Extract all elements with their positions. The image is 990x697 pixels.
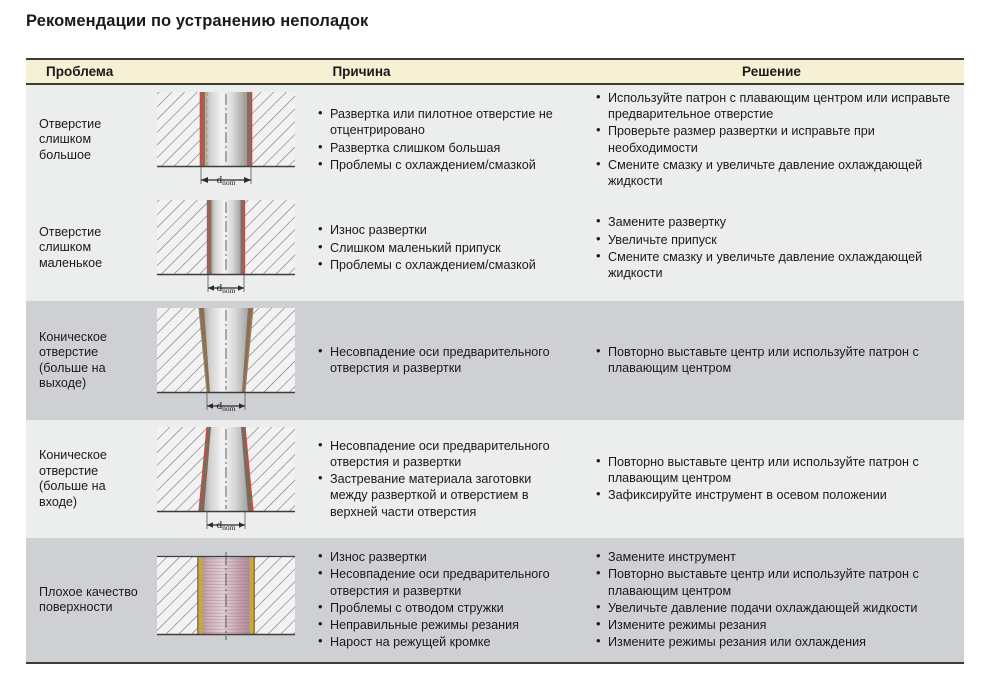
table-row: Отверстие слишком большое xyxy=(26,84,964,195)
column-header-cause: Причина xyxy=(144,59,579,84)
cause-cell: Несовпадение оси предварительного отверс… xyxy=(307,301,579,420)
figure-cell: dnom xyxy=(144,84,307,195)
cause-cell: Развертка или пилотное отверстие не отце… xyxy=(307,84,579,195)
hole-too-large-diagram: dnom xyxy=(150,88,302,188)
cause-cell: Износ развертки Слишком маленький припус… xyxy=(307,195,579,301)
solution-list: Замените развертку Увеличьте припуск Сме… xyxy=(585,214,964,281)
figure-cell xyxy=(144,538,307,663)
svg-text:dnom: dnom xyxy=(216,400,235,413)
list-item: Используйте патрон с плавающим центром и… xyxy=(595,90,956,122)
problem-label: Плохое качество поверхности xyxy=(26,538,144,663)
list-item: Развертка слишком большая xyxy=(317,140,571,156)
cause-list: Износ развертки Слишком маленький припус… xyxy=(307,222,579,273)
solution-cell: Повторно выставьте центр или используйте… xyxy=(579,420,964,538)
cause-cell: Несовпадение оси предварительного отверс… xyxy=(307,420,579,538)
list-item: Развертка или пилотное отверстие не отце… xyxy=(317,106,571,138)
list-item: Повторно выставьте центр или используйте… xyxy=(595,454,956,486)
table-row: Коническое отверстие (больше на выходе) xyxy=(26,301,964,420)
list-item: Увеличьте давление подачи охлаждающей жи… xyxy=(595,600,956,616)
column-header-problem: Проблема xyxy=(26,59,144,84)
list-item: Проблемы с отводом стружки xyxy=(317,600,571,616)
list-item: Измените режимы резания xyxy=(595,617,956,633)
list-item: Слишком маленький припуск xyxy=(317,240,571,256)
table-header: Проблема Причина Решение xyxy=(26,59,964,84)
list-item: Смените смазку и увеличьте давление охла… xyxy=(595,249,956,281)
page-title: Рекомендации по устранению неполадок xyxy=(26,12,368,31)
list-item: Износ развертки xyxy=(317,549,571,565)
svg-text:dnom: dnom xyxy=(216,519,235,532)
problem-label: Отверстие слишком большое xyxy=(26,84,144,195)
svg-text:dnom: dnom xyxy=(216,282,235,295)
dimension-sub-label: nom xyxy=(222,286,236,295)
dimension-sub-label: nom xyxy=(222,523,236,532)
solution-cell: Замените развертку Увеличьте припуск Сме… xyxy=(579,195,964,301)
list-item: Повторно выставьте центр или используйте… xyxy=(595,344,956,376)
list-item: Замените инструмент xyxy=(595,549,956,565)
problem-label: Коническое отверстие (больше на входе) xyxy=(26,420,144,538)
solution-list: Повторно выставьте центр или используйте… xyxy=(585,454,964,504)
list-item: Несовпадение оси предварительного отверс… xyxy=(317,438,571,470)
list-item: Износ развертки xyxy=(317,222,571,238)
list-item: Несовпадение оси предварительного отверс… xyxy=(317,566,571,598)
list-item: Измените режимы резания или охлаждения xyxy=(595,634,956,650)
dimension-sub-label: nom xyxy=(222,404,236,413)
cause-cell: Износ развертки Несовпадение оси предвар… xyxy=(307,538,579,663)
troubleshooting-table: Проблема Причина Решение Отверстие слишк… xyxy=(26,58,964,664)
list-item: Проблемы с охлаждением/смазкой xyxy=(317,257,571,273)
cause-list: Развертка или пилотное отверстие не отце… xyxy=(307,106,579,173)
list-item: Увеличьте припуск xyxy=(595,232,956,248)
list-item: Нарост на режущей кромке xyxy=(317,634,571,650)
solution-list: Используйте патрон с плавающим центром и… xyxy=(585,90,964,189)
cause-list: Несовпадение оси предварительного отверс… xyxy=(307,438,579,520)
list-item: Проверьте размер развертки и исправьте п… xyxy=(595,123,956,155)
solution-list: Повторно выставьте центр или используйте… xyxy=(585,344,964,376)
list-item: Неправильные режимы резания xyxy=(317,617,571,633)
problem-label: Отверстие слишком маленькое xyxy=(26,195,144,301)
list-item: Застревание материала заготовки между ра… xyxy=(317,471,571,520)
table-header-row: Проблема Причина Решение xyxy=(26,59,964,84)
solution-cell: Повторно выставьте центр или используйте… xyxy=(579,301,964,420)
list-item: Проблемы с охлаждением/смазкой xyxy=(317,157,571,173)
cause-list: Несовпадение оси предварительного отверс… xyxy=(307,344,579,376)
table-row: Коническое отверстие (больше на входе) xyxy=(26,420,964,538)
column-header-solution: Решение xyxy=(579,59,964,84)
hole-too-small-diagram: dnom xyxy=(150,196,302,296)
list-item: Несовпадение оси предварительного отверс… xyxy=(317,344,571,376)
figure-cell: dnom xyxy=(144,420,307,538)
list-item: Повторно выставьте центр или используйте… xyxy=(595,566,956,598)
list-item: Зафиксируйте инструмент в осевом положен… xyxy=(595,487,956,503)
tapered-hole-wider-at-exit-diagram: dnom xyxy=(150,302,302,414)
page-root: Рекомендации по устранению неполадок Про… xyxy=(0,0,990,697)
list-item: Замените развертку xyxy=(595,214,956,230)
solution-cell: Замените инструмент Повторно выставьте ц… xyxy=(579,538,964,663)
list-item: Смените смазку и увеличьте давление охла… xyxy=(595,157,956,189)
figure-cell: dnom xyxy=(144,195,307,301)
table-row: Отверстие слишком маленькое xyxy=(26,195,964,301)
figure-cell: dnom xyxy=(144,301,307,420)
solution-cell: Используйте патрон с плавающим центром и… xyxy=(579,84,964,195)
tapered-hole-wider-at-entry-diagram: dnom xyxy=(150,421,302,533)
problem-label: Коническое отверстие (больше на выходе) xyxy=(26,301,144,420)
cause-list: Износ развертки Несовпадение оси предвар… xyxy=(307,549,579,650)
poor-surface-finish-diagram xyxy=(150,548,302,648)
table-row: Плохое качество поверхности xyxy=(26,538,964,663)
table-body: Отверстие слишком большое xyxy=(26,84,964,663)
solution-list: Замените инструмент Повторно выставьте ц… xyxy=(585,549,964,650)
